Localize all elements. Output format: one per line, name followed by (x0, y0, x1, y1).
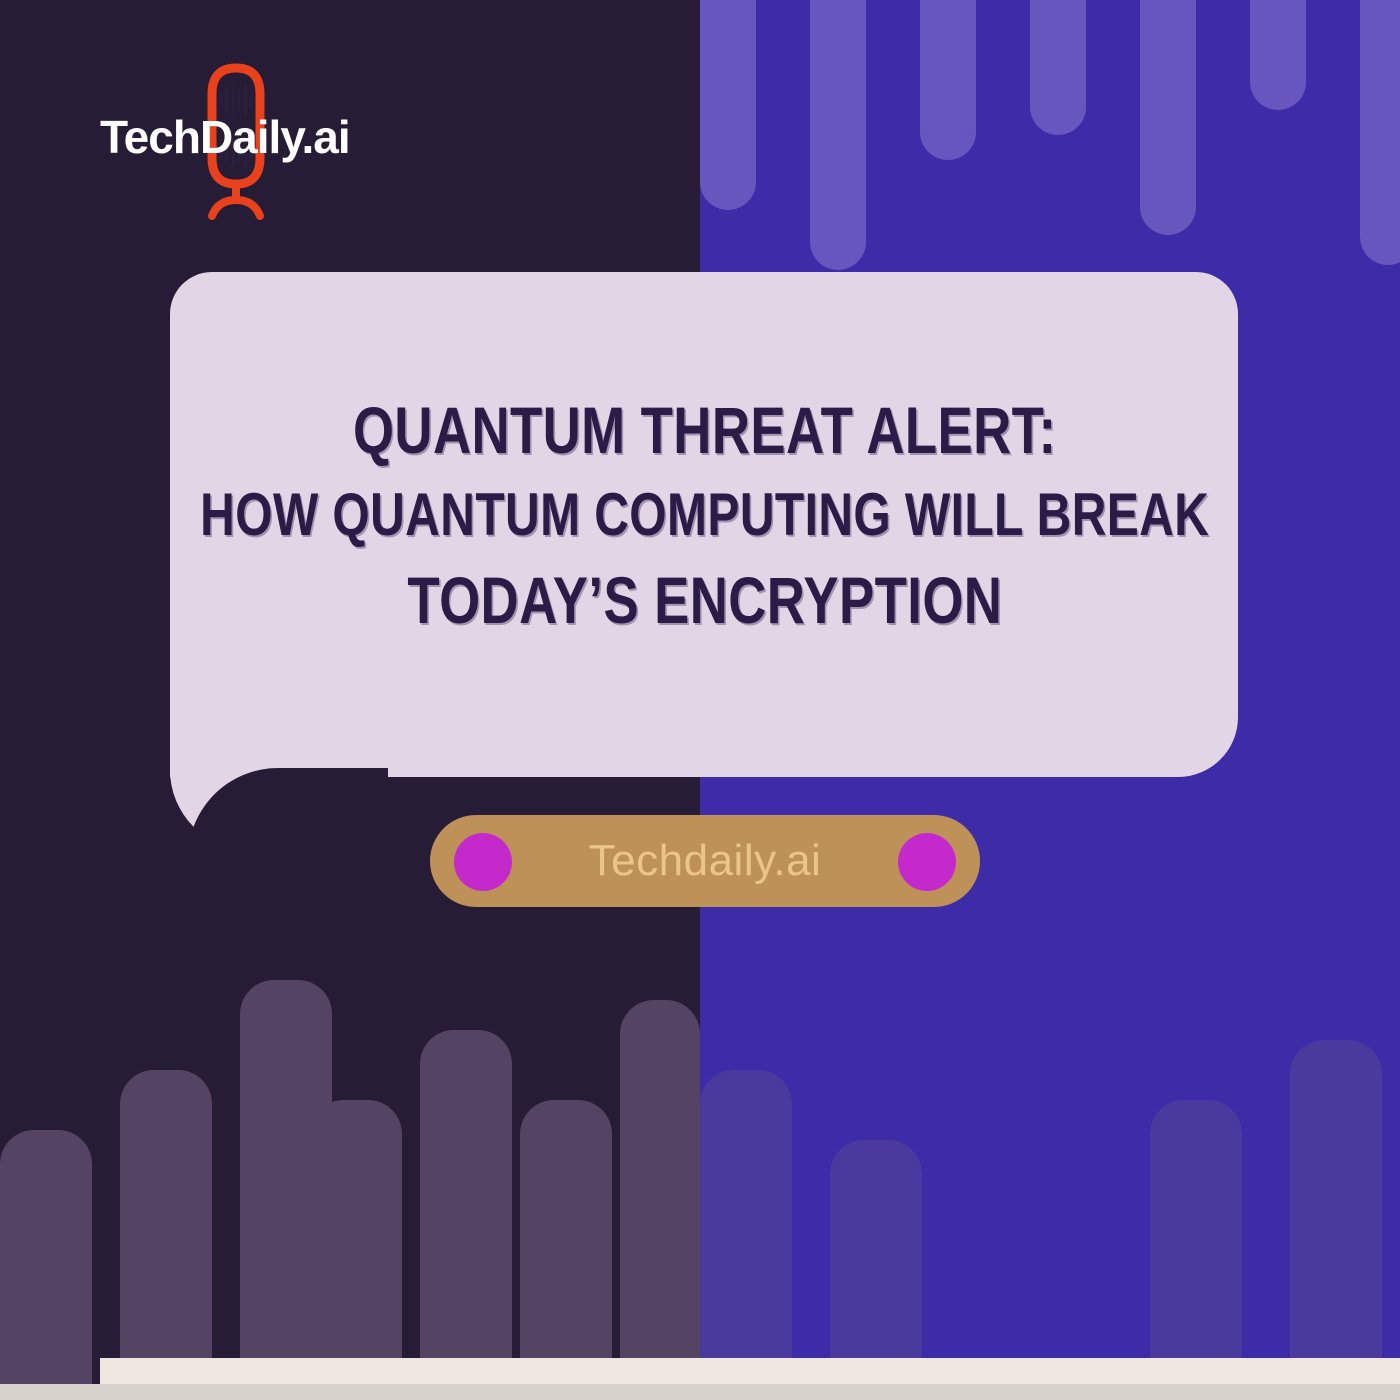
handle-label: Techdaily.ai (589, 836, 822, 886)
circle-dot-icon-left (454, 833, 512, 891)
brand-logo-text: TechDaily.ai (100, 110, 350, 164)
headline-line-2: HOW QUANTUM COMPUTING WILL BREAK (200, 485, 1209, 545)
brand-logo[interactable]: TechDaily.ai (100, 60, 370, 220)
headline-line-1: QUANTUM THREAT ALERT: (353, 397, 1057, 463)
headline-card-tail (170, 770, 355, 850)
headline-line-3: TODAY’S ENCRYPTION (408, 567, 1003, 633)
handle-pill[interactable]: Techdaily.ai (430, 815, 980, 907)
circle-dot-icon-right (898, 833, 956, 891)
podcast-promo-poster: QUANTUM THREAT ALERT: HOW QUANTUM COMPUT… (0, 0, 1400, 1400)
headline-text-block: QUANTUM THREAT ALERT: HOW QUANTUM COMPUT… (190, 300, 1220, 730)
